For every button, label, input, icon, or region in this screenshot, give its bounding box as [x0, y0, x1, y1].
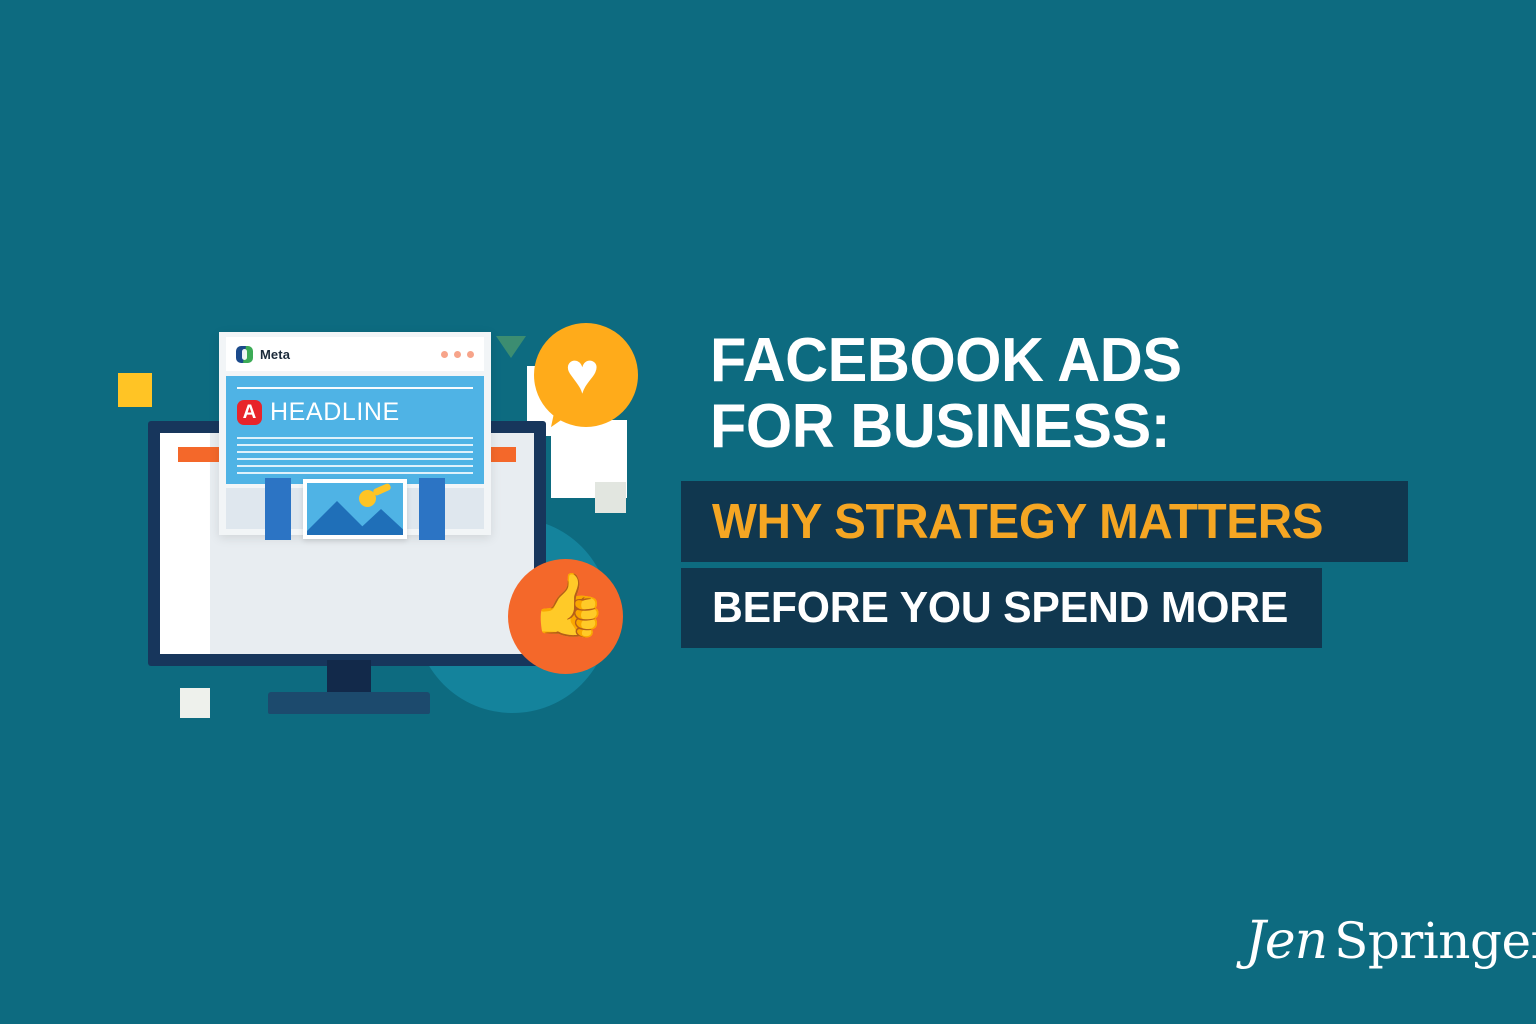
- ad-body-text-lines: [237, 437, 473, 474]
- title-line-1: FACEBOOK ADS: [710, 328, 1401, 394]
- signature-last-name: Springer: [1334, 916, 1536, 966]
- ad-media-row: [226, 488, 484, 529]
- side-bar-right: [419, 478, 445, 540]
- poster-canvas: Meta A HEADLINE: [0, 0, 1536, 1024]
- browser-title-bar: Meta: [226, 337, 484, 371]
- image-placeholder-icon: [303, 479, 407, 539]
- signature-first-name: Jen: [1245, 915, 1327, 967]
- offwhite-square-decoration: [180, 688, 210, 718]
- divider-rule: [237, 387, 473, 389]
- window-dot-2[interactable]: [454, 351, 461, 358]
- text-line: [237, 444, 473, 446]
- brand-label: Meta: [260, 347, 290, 362]
- yellow-square-decoration: [118, 373, 152, 407]
- browser-window-mock: Meta A HEADLINE: [219, 332, 491, 535]
- window-dot-1[interactable]: [441, 351, 448, 358]
- lightgray-square-decoration: [595, 482, 626, 513]
- text-line: [237, 437, 473, 439]
- highlight-bar-strategy: WHY STRATEGY MATTERS: [681, 481, 1408, 562]
- green-triangle-decoration: [496, 336, 526, 358]
- highlight-text-strategy: WHY STRATEGY MATTERS: [712, 494, 1323, 550]
- ad-badge-icon: A: [237, 400, 262, 425]
- meta-logo-icon: [236, 346, 253, 363]
- text-line: [237, 458, 473, 460]
- text-line: [237, 465, 473, 467]
- text-line: [237, 451, 473, 453]
- title-line-2: FOR BUSINESS:: [710, 394, 1401, 460]
- highlight-bar-before: BEFORE YOU SPEND MORE: [681, 568, 1322, 648]
- window-dots: [441, 351, 474, 358]
- highlight-text-before: BEFORE YOU SPEND MORE: [712, 583, 1288, 633]
- page-title: FACEBOOK ADS FOR BUSINESS:: [710, 328, 1430, 460]
- brand-signature: Jen Springer: [1245, 915, 1536, 967]
- sun-streak-icon: [372, 483, 391, 496]
- text-line: [237, 472, 473, 474]
- monitor-base: [268, 692, 430, 714]
- side-bar-left: [265, 478, 291, 540]
- window-dot-3[interactable]: [467, 351, 474, 358]
- ad-headline-row: A HEADLINE: [237, 398, 473, 427]
- mountain-shape-b: [353, 509, 403, 535]
- heart-icon: ♥: [565, 345, 599, 403]
- thumbs-up-icon: 👍: [530, 575, 607, 637]
- ad-preview-body: A HEADLINE: [226, 376, 484, 484]
- ad-headline-text: HEADLINE: [270, 398, 400, 427]
- image-placeholder-inner: [307, 483, 403, 535]
